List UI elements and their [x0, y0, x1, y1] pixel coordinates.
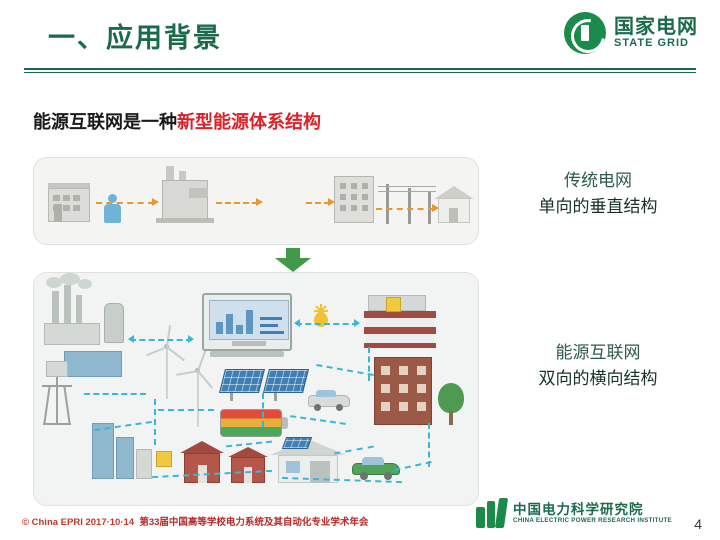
state-grid-logo-text: 国家电网 STATE GRID	[614, 17, 698, 50]
power-plant-window	[73, 205, 80, 211]
power-flow-segment	[376, 208, 434, 210]
subtitle: 能源互联网是一种新型能源体系结构	[33, 108, 321, 134]
energy-link	[296, 323, 358, 325]
energy-link-arrow	[128, 335, 134, 343]
solar-panel	[263, 369, 309, 393]
energy-internet-diagram	[33, 272, 479, 506]
transmission-tower	[262, 168, 304, 224]
thermal-plant-smoke	[60, 273, 80, 285]
house-door	[449, 208, 458, 223]
page-title: 一、应用背景	[48, 16, 222, 55]
worker-figure-body	[104, 204, 121, 223]
control-center-desk	[210, 351, 284, 357]
tree-trunk	[449, 411, 453, 425]
solar-panel-leg	[274, 393, 277, 401]
factory-building	[162, 180, 208, 222]
state-grid-logo-cn: 国家电网	[614, 17, 698, 38]
power-flow-arrow	[328, 198, 335, 206]
state-grid-logo-en: STATE GRID	[614, 38, 698, 50]
industrial-annex	[46, 361, 68, 377]
thermal-plant-smoke	[78, 279, 92, 289]
battery-terminal	[282, 417, 288, 429]
city-building	[116, 437, 134, 479]
energy-link	[368, 347, 370, 381]
power-flow-segment	[96, 202, 154, 204]
footer-copyright: © China EPRI 2017·10·14	[22, 517, 134, 528]
caption-traditional-line1: 传统电网	[498, 168, 698, 194]
epri-logo-en: CHINA ELECTRIC POWER RESEARCH INSTITUTE	[513, 517, 672, 524]
caption-energy-line1: 能源互联网	[498, 340, 698, 366]
office-building	[334, 176, 374, 223]
house	[180, 441, 224, 483]
caption-traditional-line2: 单向的垂直结构	[498, 194, 698, 220]
caption-energy-internet: 能源互联网 双向的横向结构	[498, 340, 698, 393]
substation-hazard-sign	[386, 297, 401, 312]
footer-event: 第33届中国高等学校电力系统及其自动化专业学术年会	[139, 517, 368, 528]
residential-building	[374, 357, 432, 425]
energy-link	[316, 364, 373, 376]
wind-turbine	[152, 333, 182, 399]
energy-link	[154, 399, 156, 445]
epri-logo: 中国电力科学研究院 CHINA ELECTRIC POWER RESEARCH …	[476, 498, 672, 528]
subtitle-plain: 能源互联网是一种	[33, 112, 177, 132]
traditional-grid-diagram	[33, 157, 479, 245]
epri-logo-text: 中国电力科学研究院 CHINA ELECTRIC POWER RESEARCH …	[513, 502, 672, 525]
power-flow-segment	[306, 202, 330, 204]
distribution-wire	[378, 186, 436, 187]
tree-crown	[438, 383, 464, 413]
energy-link	[290, 415, 346, 425]
energy-link	[262, 393, 264, 427]
page-number: 4	[694, 516, 702, 532]
power-plant-window	[73, 195, 80, 201]
energy-link-arrow	[294, 319, 300, 327]
power-plant-window	[63, 195, 70, 201]
wind-turbine	[184, 359, 212, 427]
epri-logo-mark	[476, 498, 506, 528]
industrial-plant	[64, 351, 122, 377]
energy-link	[158, 409, 214, 411]
factory-sawtooth-roof	[189, 188, 208, 198]
smart-home	[270, 429, 346, 483]
footer-note: © China EPRI 2017·10·14 第33届中国高等学校电力系统及其…	[22, 514, 368, 528]
distribution-pole	[408, 188, 411, 224]
subtitle-accent: 新型能源体系结构	[177, 112, 321, 132]
power-flow-arrow	[256, 198, 263, 206]
sun-icon	[306, 305, 336, 335]
electric-car	[352, 455, 400, 481]
thermal-plant-building	[44, 323, 100, 345]
energy-link	[84, 393, 146, 395]
state-grid-logo: 国家电网 STATE GRID	[564, 10, 698, 56]
cooling-tower	[104, 303, 124, 343]
transmission-tower	[40, 377, 74, 425]
header-divider	[24, 68, 696, 70]
power-plant-window	[63, 205, 70, 211]
city-building	[92, 423, 114, 479]
energy-link-arrow	[354, 319, 360, 327]
electric-vehicle	[308, 389, 350, 411]
thermal-plant-chimney	[52, 291, 59, 325]
thermal-plant-chimney	[64, 285, 71, 325]
city-building	[136, 449, 152, 479]
house	[228, 447, 268, 483]
energy-link-arrow	[188, 335, 194, 343]
substation-hazard-sign	[156, 451, 172, 467]
power-flow-arrow	[432, 204, 439, 212]
solar-panel-leg	[230, 393, 233, 401]
distribution-pole	[386, 184, 389, 224]
power-plant-door	[54, 204, 62, 222]
factory-base	[156, 218, 214, 223]
thermal-plant-chimney	[76, 295, 82, 325]
power-flow-arrow	[152, 198, 159, 206]
distribution-wire	[378, 191, 436, 192]
power-plant-window	[53, 195, 60, 201]
slide-header: 一、应用背景 国家电网 STATE GRID	[0, 0, 720, 68]
epri-logo-cn: 中国电力科学研究院	[513, 502, 672, 518]
header-divider-secondary	[24, 72, 696, 73]
caption-energy-line2: 双向的横向结构	[498, 366, 698, 392]
caption-traditional-grid: 传统电网 单向的垂直结构	[498, 168, 698, 221]
transition-arrow	[275, 248, 311, 272]
energy-link	[130, 339, 192, 341]
control-center-screen	[202, 293, 292, 351]
solar-panel	[219, 369, 265, 393]
state-grid-logo-mark	[564, 12, 606, 54]
power-flow-segment	[216, 202, 258, 204]
